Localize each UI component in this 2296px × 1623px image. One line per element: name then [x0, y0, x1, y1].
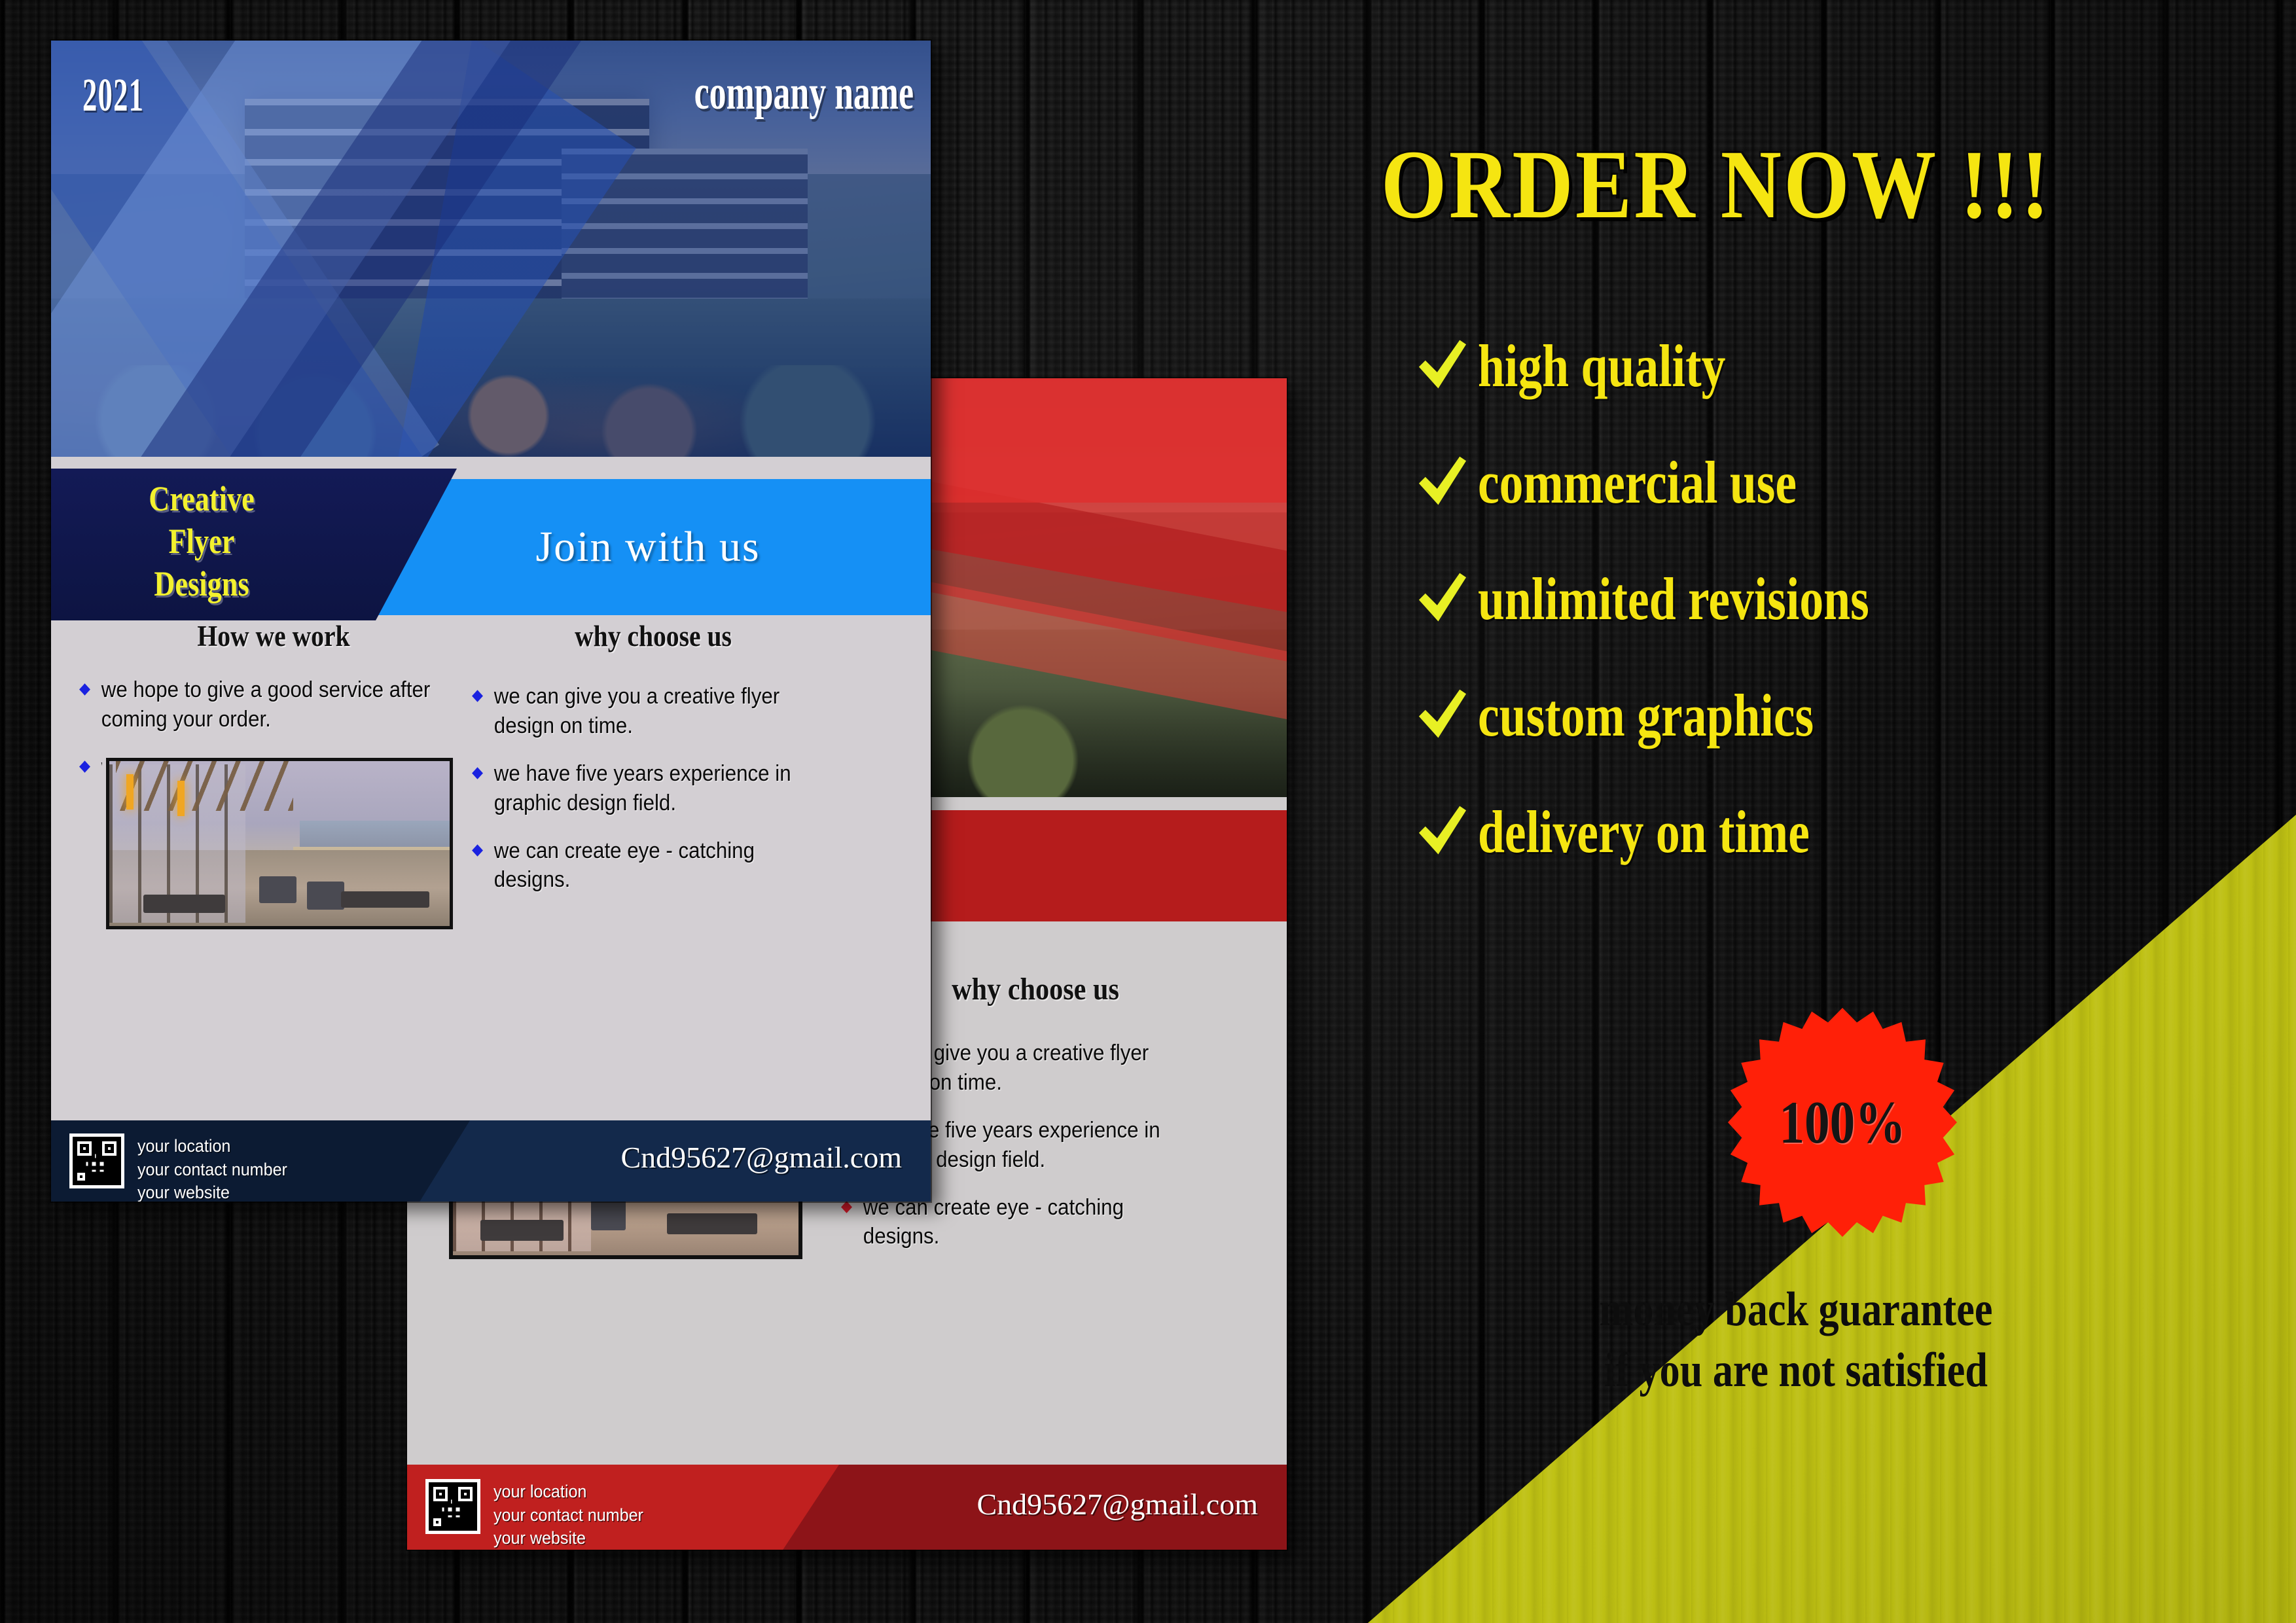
- blue-footer-contact-block: your location your contact number your w…: [137, 1135, 287, 1202]
- blue-footer-website: your website: [137, 1181, 287, 1202]
- blue-brand-line-2: Flyer: [78, 520, 325, 563]
- list-item: we hope to give a good service after com…: [77, 675, 439, 734]
- red-footer-website: your website: [493, 1527, 643, 1550]
- thumb-table: [667, 1213, 757, 1234]
- thumb-sea: [300, 821, 450, 847]
- guarantee-line-2: if you are not satisfied: [1376, 1340, 2216, 1401]
- feature-label: high quality: [1478, 331, 1725, 401]
- blue-flyer-footer: your location your contact number your w…: [51, 1120, 931, 1202]
- thumb-table: [480, 1220, 564, 1241]
- feature-label: unlimited revisions: [1478, 564, 1869, 633]
- list-item: we have five years experience in graphic…: [470, 759, 807, 818]
- thumb-chair: [591, 1199, 626, 1230]
- check-icon: [1407, 572, 1478, 626]
- red-footer-contact-block: your location your contact number your w…: [493, 1480, 643, 1550]
- blue-how-heading: How we work: [101, 619, 446, 653]
- list-item: we can give you a creative flyer design …: [470, 682, 807, 741]
- check-icon: [1407, 805, 1478, 859]
- blue-flyer-body: How we work we hope to give a good servi…: [51, 619, 931, 1202]
- blue-join-label: Join with us: [535, 522, 760, 572]
- blue-join-banner[interactable]: Join with us: [365, 479, 931, 615]
- qr-code-icon[interactable]: [425, 1479, 480, 1534]
- flyer-blue[interactable]: 2021 company name Join with us Creative …: [51, 41, 931, 1202]
- blue-flyer-banner-row: Join with us Creative Flyer Designs: [51, 457, 931, 619]
- promo-feature-list: high quality commercial use unlimited re…: [1407, 308, 2258, 890]
- blue-flyer-company-name: company name: [694, 65, 914, 121]
- thumb-pergola: [116, 761, 293, 811]
- thumb-table: [341, 891, 429, 908]
- thumb-lamp: [177, 781, 185, 816]
- qr-code-icon[interactable]: [69, 1133, 124, 1188]
- starburst-badge: 100%: [1728, 1008, 1957, 1237]
- feature-row: delivery on time: [1407, 774, 2258, 890]
- blue-why-bullets: we can give you a creative flyer design …: [470, 682, 836, 895]
- thumb-chair: [307, 882, 344, 910]
- feature-row: unlimited revisions: [1407, 541, 2258, 657]
- feature-row: custom graphics: [1407, 657, 2258, 774]
- promo-title: ORDER NOW !!!: [1381, 128, 2051, 241]
- blue-footer-email[interactable]: Cnd95627@gmail.com: [621, 1140, 903, 1175]
- guarantee-line-1: money back guarantee: [1376, 1279, 2216, 1340]
- blue-flyer-thumbnail-photo: [106, 758, 453, 929]
- badge-value: 100%: [1746, 1008, 1939, 1237]
- thumb-chair: [259, 876, 296, 902]
- list-item: we can create eye - catching designs.: [470, 836, 807, 895]
- check-icon: [1407, 339, 1478, 393]
- check-icon: [1407, 688, 1478, 742]
- red-footer-location: your location: [493, 1480, 643, 1504]
- blue-footer-location: your location: [137, 1135, 287, 1158]
- blue-footer-contact: your contact number: [137, 1158, 287, 1182]
- photo-foliage: [51, 365, 931, 457]
- red-flyer-footer: your location your contact number your w…: [407, 1465, 1287, 1550]
- blue-why-choose-us-column: why choose us we can give you a creative…: [470, 619, 836, 913]
- feature-label: commercial use: [1478, 448, 1797, 517]
- promo-panel: ORDER NOW !!! high quality commercial us…: [1296, 0, 2296, 1623]
- blue-brand-line-3: Designs: [78, 563, 325, 605]
- blue-brand-line-1: Creative: [78, 478, 325, 520]
- blue-why-heading: why choose us: [492, 619, 815, 653]
- thumb-table: [143, 895, 225, 913]
- feature-label: custom graphics: [1478, 681, 1814, 750]
- red-footer-email[interactable]: Cnd95627@gmail.com: [977, 1487, 1259, 1522]
- red-footer-contact: your contact number: [493, 1504, 643, 1527]
- thumb-lamp: [126, 774, 134, 810]
- feature-row: commercial use: [1407, 424, 2258, 541]
- blue-flyer-header-photo: 2021 company name: [51, 41, 931, 457]
- poster-canvas: 2021 company name Join with us Creative …: [0, 0, 2296, 1623]
- feature-row: high quality: [1407, 308, 2258, 424]
- check-icon: [1407, 455, 1478, 509]
- guarantee-text: money back guarantee if you are not sati…: [1376, 1279, 2216, 1401]
- blue-brand-text: Creative Flyer Designs: [78, 478, 325, 605]
- feature-label: delivery on time: [1478, 797, 1810, 866]
- blue-flyer-year: 2021: [82, 68, 144, 122]
- blue-how-we-work-column: How we work we hope to give a good servi…: [77, 619, 470, 800]
